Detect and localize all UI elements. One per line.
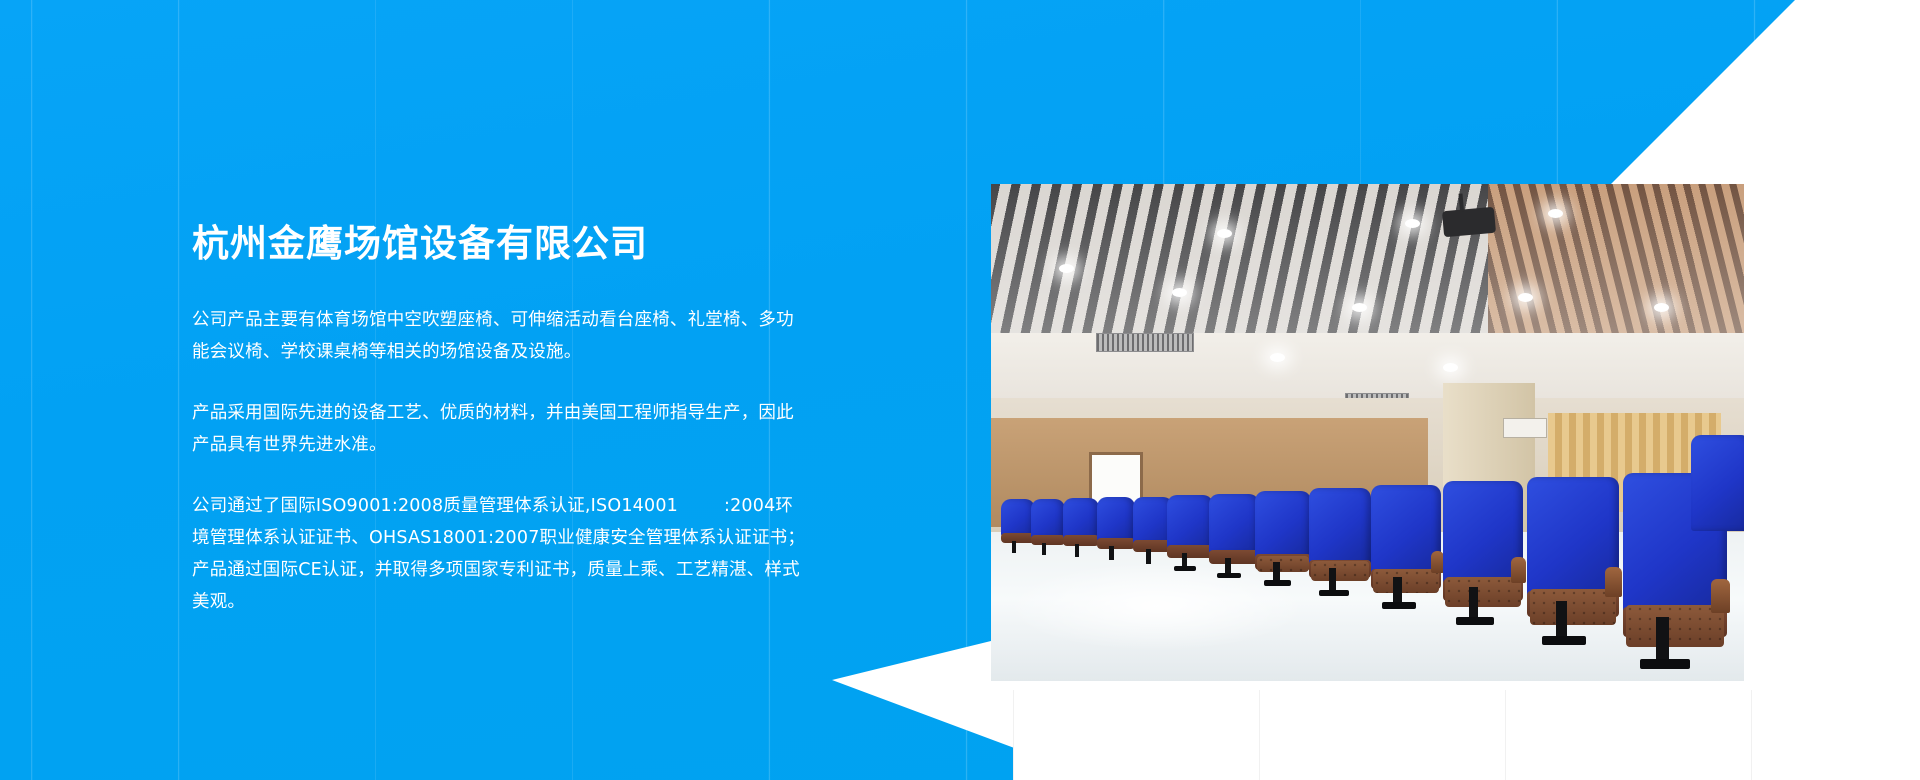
auditorium-photo <box>991 184 1744 681</box>
cert-text-part-one: 公司通过了国际ISO9001:2008质量管理体系认证,ISO14001 <box>192 496 678 516</box>
page-title: 杭州金鹰场馆设备有限公司 <box>192 222 807 266</box>
wall-sign <box>1503 418 1547 438</box>
ceiling-light-2 <box>1217 229 1232 238</box>
bottom-white-plate <box>1013 681 1920 780</box>
paragraph-quality: 产品采用国际先进的设备工艺、优质的材料，并由美国工程师指导生产，因此产品具有世界… <box>192 397 807 461</box>
ceiling-light-1 <box>1059 264 1074 273</box>
paragraph-products: 公司产品主要有体育场馆中空吹塑座椅、可伸缩活动看台座椅、礼堂椅、多功能会议椅、学… <box>192 304 807 368</box>
ceiling-light-4 <box>1548 209 1563 218</box>
air-vent-left <box>1096 333 1194 352</box>
ceiling-light-9 <box>1270 353 1285 362</box>
paragraph-certifications: 公司通过了国际ISO9001:2008质量管理体系认证,ISO14001:200… <box>192 490 807 618</box>
ceiling-light-3 <box>1405 219 1420 228</box>
text-column: 杭州金鹰场馆设备有限公司 公司产品主要有体育场馆中空吹塑座椅、可伸缩活动看台座椅… <box>192 222 807 618</box>
floor-reflection <box>1006 562 1307 651</box>
ceiling-projector <box>1442 207 1496 237</box>
ceiling-light-8 <box>1654 303 1669 312</box>
company-profile-banner: 杭州金鹰场馆设备有限公司 公司产品主要有体育场馆中空吹塑座椅、可伸缩活动看台座椅… <box>0 0 1920 780</box>
photo-scene <box>991 184 1744 681</box>
ceiling-light-10 <box>1443 363 1458 372</box>
